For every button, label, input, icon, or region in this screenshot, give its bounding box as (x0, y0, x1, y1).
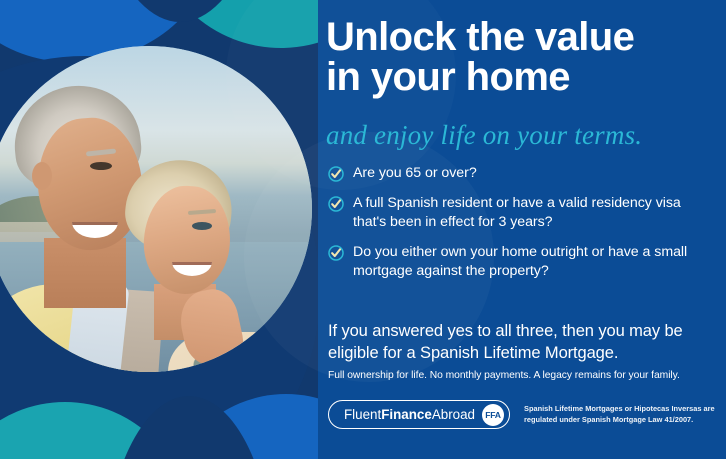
logo-word-abroad: Abroad (432, 407, 475, 422)
list-item-label: A full Spanish resident or have a valid … (353, 194, 712, 232)
check-circle-icon (328, 196, 344, 212)
page-title: Unlock the value in your home (326, 18, 706, 97)
fineprint-text: Full ownership for life. No monthly paym… (328, 370, 708, 381)
advertisement-banner: Unlock the value in your home and enjoy … (0, 0, 726, 459)
check-circle-icon (328, 245, 344, 261)
logo-lockup: Fluent Finance Abroad FFA Spanish Lifeti… (328, 400, 726, 429)
subheadline: and enjoy life on your terms. (326, 120, 706, 151)
logo-word-fluent: Fluent (344, 407, 381, 422)
check-circle-icon (328, 166, 344, 182)
list-item: A full Spanish resident or have a valid … (328, 194, 712, 232)
woman-eye (192, 222, 212, 230)
eligibility-list: Are you 65 or over? A full Spanish resid… (328, 164, 712, 291)
man-ear (32, 162, 52, 190)
list-item-label: Do you either own your home outright or … (353, 243, 712, 281)
list-item-label: Are you 65 or over? (353, 164, 477, 183)
senior-couple-photo (0, 46, 312, 372)
man-eye (90, 162, 112, 170)
artwork-panel (0, 0, 318, 459)
legal-disclaimer: Spanish Lifetime Mortgages or Hipotecas … (524, 404, 726, 425)
body-copy: If you answered yes to all three, then y… (328, 321, 700, 365)
list-item: Are you 65 or over? (328, 164, 712, 183)
ffa-badge-icon: FFA (482, 404, 504, 426)
list-item: Do you either own your home outright or … (328, 243, 712, 281)
logo-word-finance: Finance (381, 407, 432, 422)
photo-background (0, 46, 312, 372)
content-panel: Unlock the value in your home and enjoy … (318, 0, 726, 459)
fluent-finance-abroad-logo[interactable]: Fluent Finance Abroad FFA (328, 400, 510, 429)
headline-line-1: Unlock the value (326, 18, 706, 58)
headline-line-2: in your home (326, 58, 706, 98)
